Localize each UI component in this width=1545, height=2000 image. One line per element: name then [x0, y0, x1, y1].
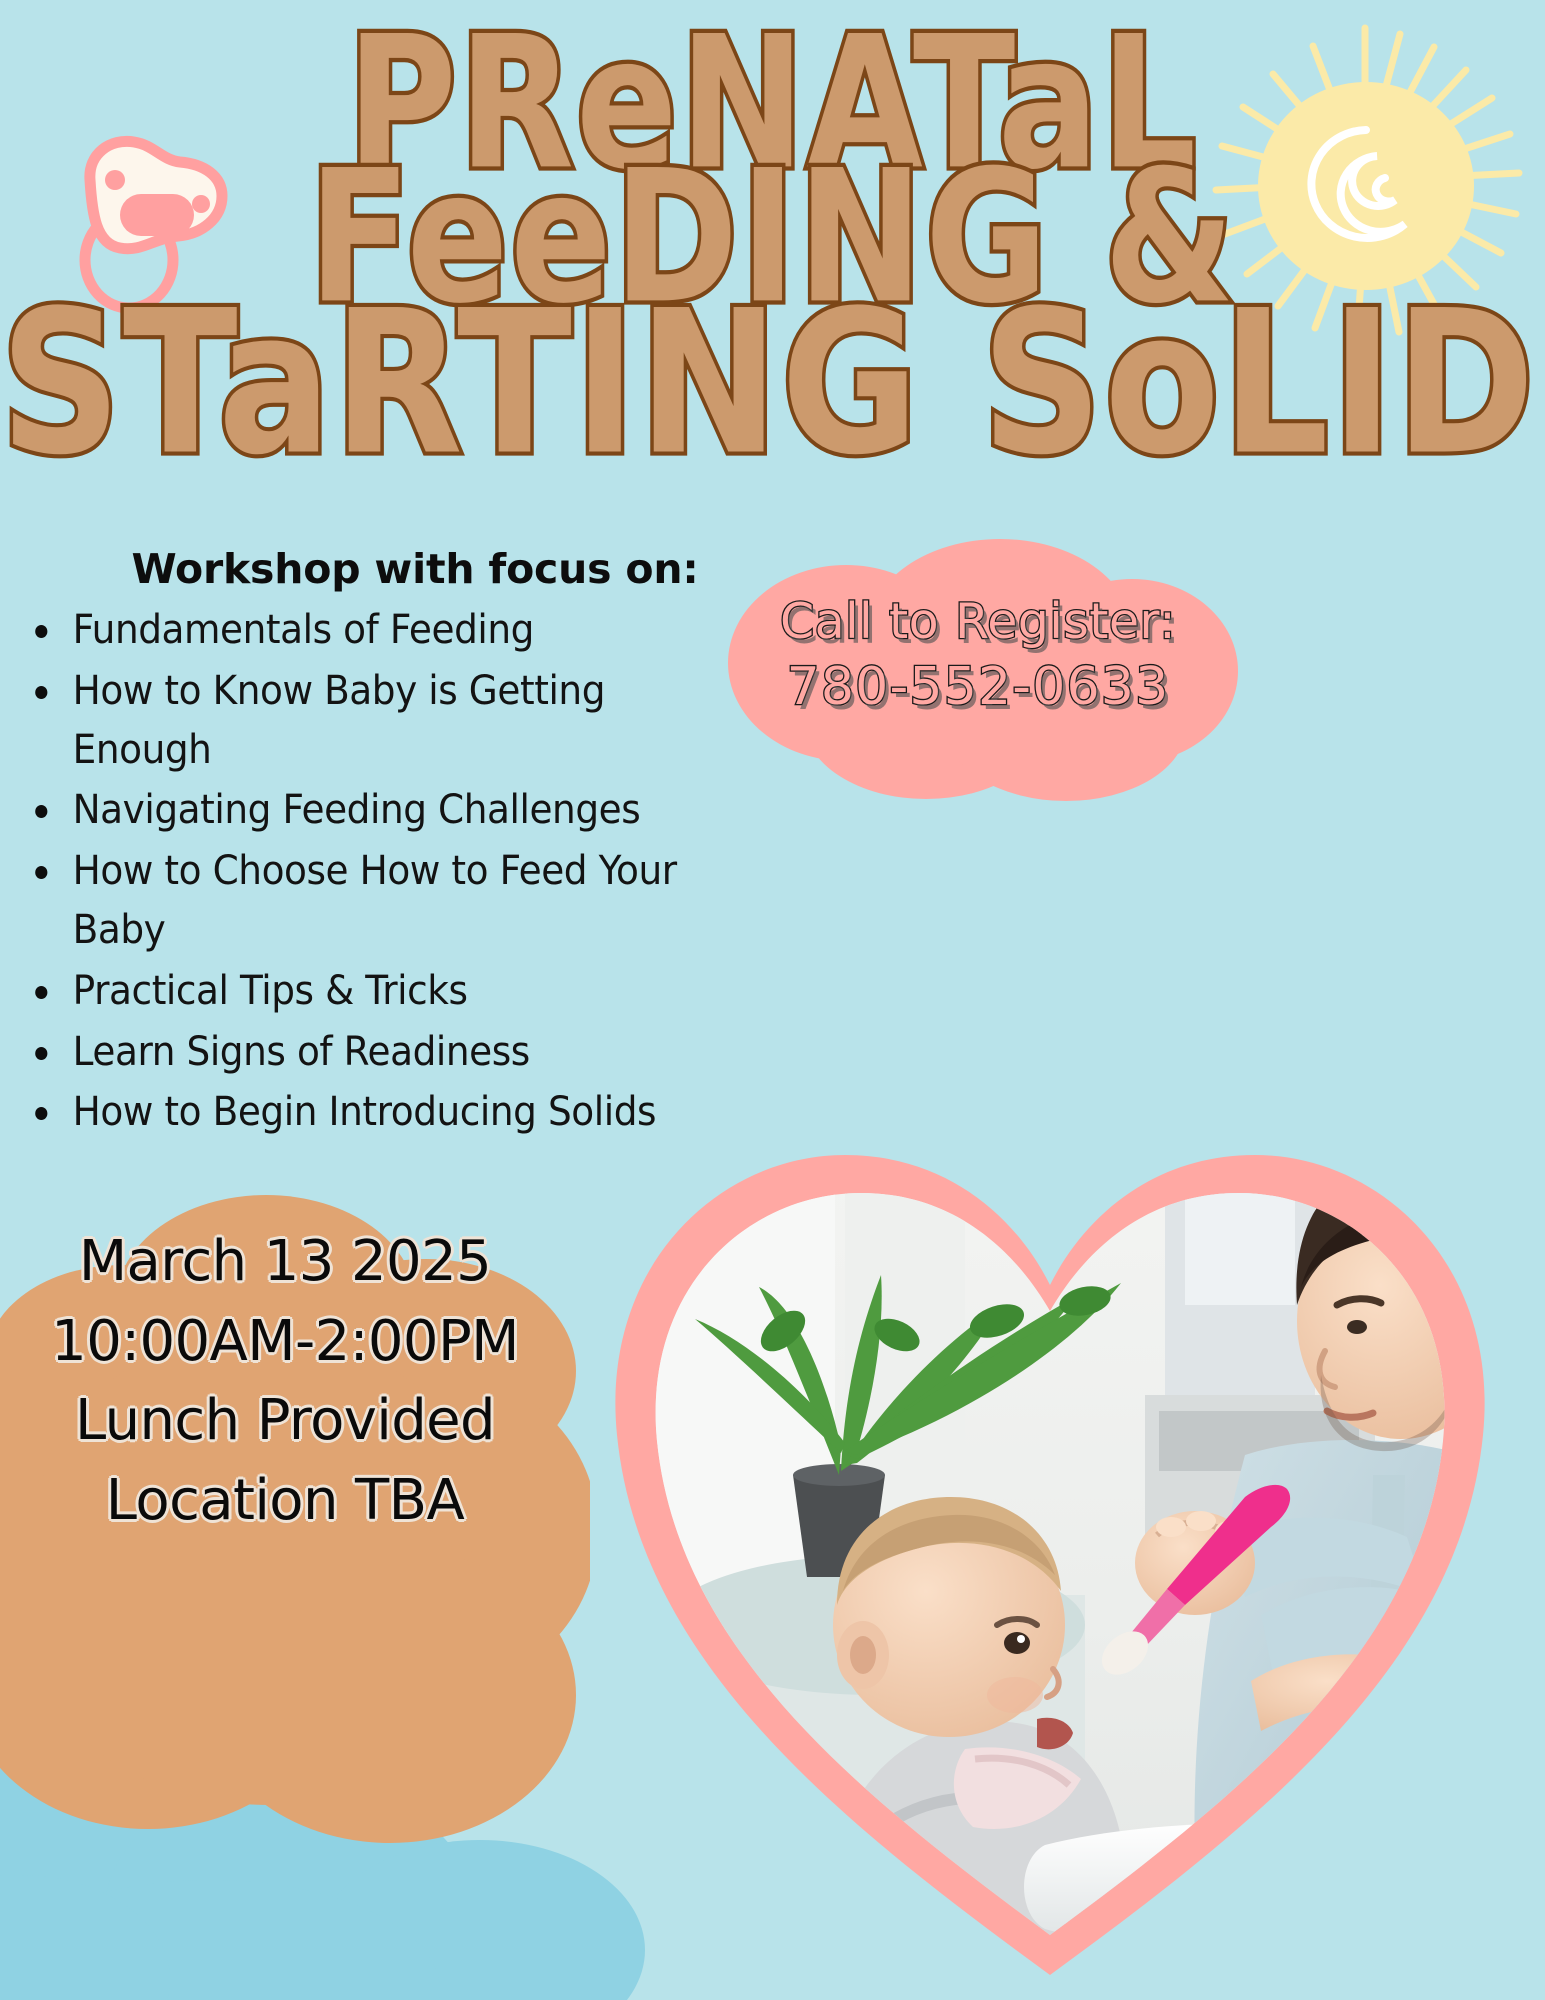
- call-to-register-label: Call to Register:: [718, 590, 1238, 654]
- bullet-dot-icon: [35, 1047, 47, 1060]
- list-item: Navigating Feeding Challenges: [24, 781, 740, 840]
- list-item-label: How to Begin Introducing Solids: [73, 1089, 656, 1135]
- bullet-dot-icon: [35, 686, 47, 699]
- register-phone-number[interactable]: 780-552-0633: [718, 654, 1238, 722]
- event-date: March 13 2025: [0, 1222, 570, 1302]
- event-details: March 13 2025 10:00AM-2:00PM Lunch Provi…: [0, 1222, 570, 1540]
- list-item: Fundamentals of Feeding: [24, 601, 740, 660]
- bullet-dot-icon: [35, 625, 47, 638]
- poster-canvas: PReNATaL FeeDING & STaRTING SoLIDS: [0, 0, 1545, 2000]
- bullet-dot-icon: [35, 866, 47, 879]
- event-time: 10:00AM-2:00PM: [0, 1302, 570, 1382]
- list-item-label: Fundamentals of Feeding: [73, 607, 534, 653]
- workshop-bullet-list: Fundamentals of Feeding How to Know Baby…: [0, 601, 790, 1142]
- list-item-label: Practical Tips & Tricks: [73, 968, 468, 1014]
- list-item-label: Navigating Feeding Challenges: [73, 787, 641, 833]
- pacifier-icon: [62, 118, 247, 318]
- event-location: Location TBA: [0, 1461, 570, 1541]
- list-item: How to Begin Introducing Solids: [24, 1083, 740, 1142]
- bullet-dot-icon: [35, 986, 47, 999]
- workshop-heading: Workshop with focus on:: [0, 545, 790, 593]
- lunch-note: Lunch Provided: [0, 1381, 570, 1461]
- register-info: Call to Register: 780-552-0633: [718, 590, 1238, 721]
- list-item: Learn Signs of Readiness: [24, 1023, 740, 1082]
- sun-icon: [1185, 10, 1545, 360]
- bullet-dot-icon: [35, 805, 47, 818]
- list-item-label: Learn Signs of Readiness: [73, 1029, 530, 1075]
- list-item-label: How to Choose How to Feed Your Baby: [73, 848, 677, 953]
- workshop-section: Workshop with focus on: Fundamentals of …: [0, 545, 790, 1144]
- list-item: Practical Tips & Tricks: [24, 962, 740, 1021]
- list-item: How to Know Baby is Getting Enough: [24, 662, 740, 780]
- bullet-dot-icon: [35, 1107, 47, 1120]
- list-item-label: How to Know Baby is Getting Enough: [73, 668, 605, 773]
- list-item: How to Choose How to Feed Your Baby: [24, 842, 740, 960]
